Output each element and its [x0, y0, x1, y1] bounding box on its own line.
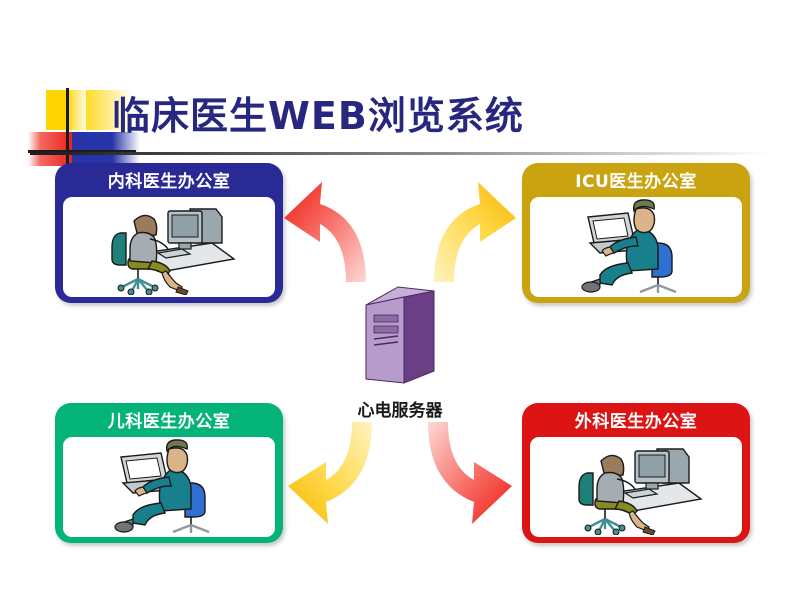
title-underline-rule — [30, 152, 770, 155]
office-illustration-pediatrics — [63, 437, 275, 537]
office-card-icu[interactable]: ICU医生办公室 — [522, 163, 750, 303]
office-illustration-icu — [530, 197, 742, 297]
curved-arrow-up-right-icon — [428, 178, 528, 288]
arrow-to-surgery — [418, 418, 528, 532]
man-with-laptop-icon — [566, 199, 706, 295]
office-card-surgery[interactable]: 外科医生办公室 — [522, 403, 750, 543]
slide-canvas: 临床医生WEB浏览系统 内科医生办公室 — [0, 0, 800, 600]
office-label-internal: 内科医生办公室 — [59, 167, 279, 197]
server-tower-icon — [362, 283, 438, 393]
office-label-surgery: 外科医生办公室 — [526, 407, 746, 437]
office-illustration-internal — [63, 197, 275, 297]
man-with-laptop-icon — [99, 439, 239, 535]
office-card-pediatrics[interactable]: 儿科医生办公室 — [55, 403, 283, 543]
arrow-to-pediatrics — [278, 418, 388, 532]
curved-arrow-down-right-icon — [418, 418, 528, 528]
page-title: 临床医生WEB浏览系统 — [112, 92, 524, 140]
woman-at-desktop-computer-icon — [94, 199, 244, 295]
office-label-icu: ICU医生办公室 — [526, 167, 746, 197]
curved-arrow-down-left-icon — [278, 418, 388, 528]
deco-vertical-line — [66, 88, 69, 170]
curved-arrow-up-left-icon — [280, 178, 380, 288]
arrow-to-icu — [428, 178, 528, 292]
arrow-to-internal — [280, 178, 380, 292]
office-illustration-surgery — [530, 437, 742, 537]
woman-at-desktop-computer-icon — [561, 439, 711, 535]
ecg-server-graphic[interactable] — [362, 283, 438, 393]
office-card-internal[interactable]: 内科医生办公室 — [55, 163, 283, 303]
office-label-pediatrics: 儿科医生办公室 — [59, 407, 279, 437]
